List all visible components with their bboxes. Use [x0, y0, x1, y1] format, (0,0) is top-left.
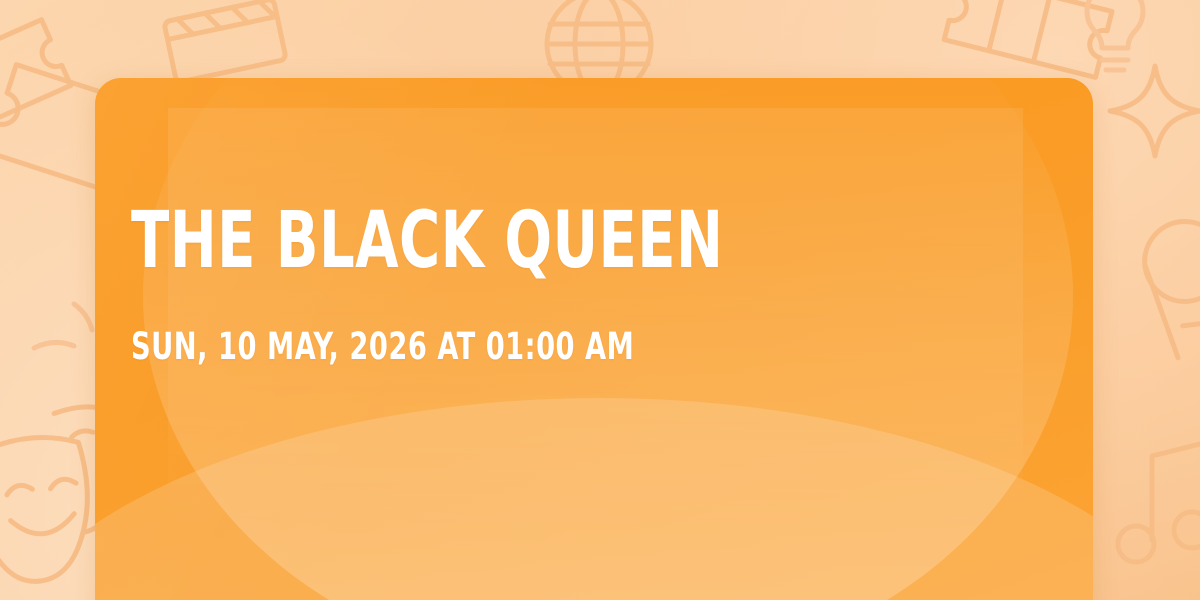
event-datetime: SUN, 10 MAY, 2026 AT 01:00 AM — [131, 328, 853, 365]
event-text-block: THE BLACK QUEEN SUN, 10 MAY, 2026 AT 01:… — [131, 202, 1011, 365]
event-title: THE BLACK QUEEN — [131, 202, 835, 280]
event-card[interactable]: THE BLACK QUEEN SUN, 10 MAY, 2026 AT 01:… — [95, 78, 1093, 600]
event-banner: THE BLACK QUEEN SUN, 10 MAY, 2026 AT 01:… — [0, 0, 1200, 600]
lightbulb-icon — [1060, 0, 1170, 80]
microphone-icon — [1110, 212, 1200, 362]
sparkle-icon — [1100, 56, 1200, 166]
music-note-icon — [1106, 430, 1200, 580]
ticket-stub-icon — [0, 6, 70, 116]
